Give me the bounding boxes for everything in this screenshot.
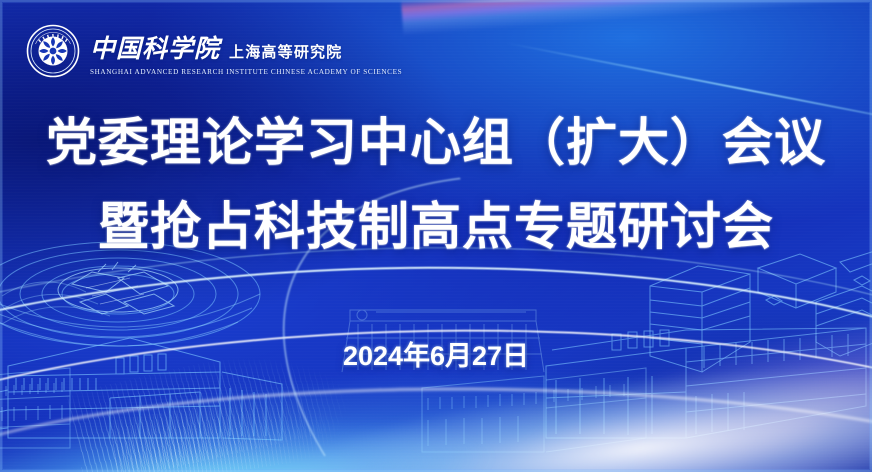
organization-logo: 中国科学院 上海高等研究院 SHANGHAI ADVANCED RESEARCH… [26,24,402,78]
banner-title-block: 党委理论学习中心组（扩大）会议 暨抢占科技制高点专题研讨会 [0,112,872,258]
conference-backdrop-banner: 中国科学院 上海高等研究院 SHANGHAI ADVANCED RESEARCH… [0,0,872,472]
cas-emblem-icon [26,24,80,78]
org-name-cn-sub: 上海高等研究院 [229,41,342,62]
campus-buildings-left-upper-graphic [0,250,120,340]
title-line-2: 暨抢占科技制高点专题研讨会 [0,196,872,258]
org-name-cn-main: 中国科学院 [90,29,220,65]
org-name-en: SHANGHAI ADVANCED RESEARCH INSTITUTE CHI… [90,68,402,76]
banner-date: 2024年6月27日 [0,334,872,373]
title-line-1: 党委理论学习中心组（扩大）会议 [0,112,872,174]
